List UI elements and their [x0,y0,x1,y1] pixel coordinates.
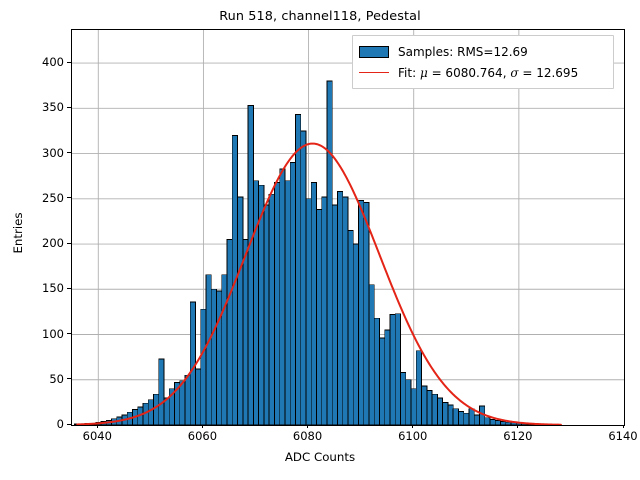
legend[interactable]: Samples: RMS=12.69 Fit: μ = 6080.764, σ … [352,35,614,89]
legend-label-samples: Samples: RMS=12.69 [398,45,528,59]
legend-fit-sigma-value: = 12.695 [519,66,579,80]
y-tick-label: 250 [0,191,64,205]
x-axis-label: ADC Counts [0,450,640,464]
legend-fit-prefix: Fit: [398,66,420,80]
x-tick-label: 6060 [162,429,242,443]
y-tick-label: 50 [0,372,64,386]
y-tick-label: 200 [0,236,64,250]
y-tick-label: 300 [0,146,64,160]
x-tick-label: 6080 [268,429,348,443]
y-tick-label: 150 [0,281,64,295]
matplotlib-figure: Run 518, channel118, Pedestal Entries AD… [0,0,640,480]
y-tick-label: 0 [0,417,64,431]
page-title: Run 518, channel118, Pedestal [0,9,640,24]
y-tick-label: 100 [0,327,64,341]
y-tick-label: 400 [0,55,64,69]
x-tick-label: 6100 [373,429,453,443]
x-tick-label: 6040 [57,429,137,443]
legend-fit-sigma-symbol: σ [510,66,518,80]
legend-swatch-bar-icon [359,46,389,58]
legend-fit-mu-symbol: μ [420,66,428,80]
legend-entry-fit[interactable]: Fit: μ = 6080.764, σ = 12.695 [359,62,607,83]
y-tick-label: 350 [0,100,64,114]
x-tick-label: 6140 [583,429,640,443]
legend-label-fit: Fit: μ = 6080.764, σ = 12.695 [398,66,578,80]
gaussian-fit-curve [72,30,624,425]
x-tick-label: 6120 [478,429,558,443]
legend-entry-samples[interactable]: Samples: RMS=12.69 [359,41,607,62]
legend-fit-mu-value: = 6080.764, [428,66,511,80]
legend-swatch-line-icon [359,67,389,79]
